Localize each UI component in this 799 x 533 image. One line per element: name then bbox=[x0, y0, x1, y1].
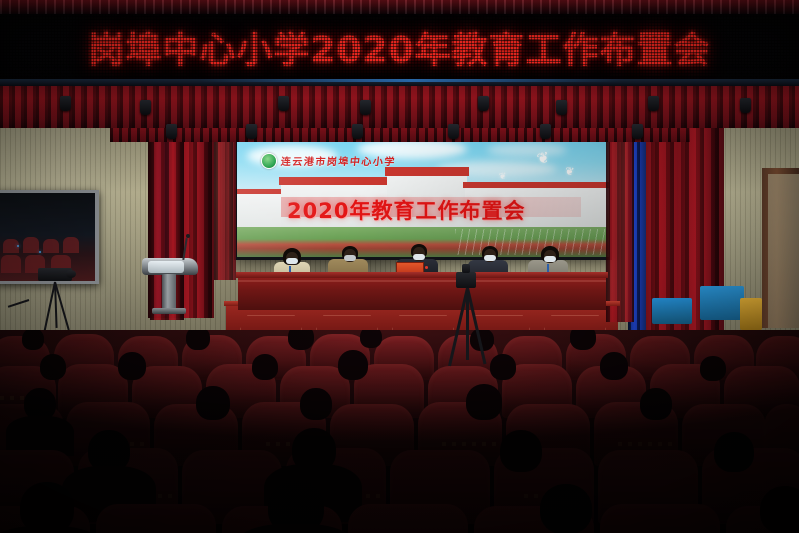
led-blue-glow bbox=[200, 79, 620, 82]
led-banner: 岗埠中心小学2020年教育工作布置会 bbox=[0, 0, 799, 86]
floor-camera-tripod bbox=[440, 272, 500, 352]
head-table bbox=[238, 276, 606, 310]
blue-box-large bbox=[700, 286, 744, 320]
spotlight-icon bbox=[360, 100, 371, 115]
auditorium-photo: ❦ ❦ ❦ 连云港市岗埠中心小学 2020年教育工作布置会 bbox=[0, 0, 799, 533]
spotlight-icon bbox=[278, 96, 289, 111]
audience-area bbox=[0, 330, 799, 533]
lapel-badge-icon bbox=[425, 266, 428, 269]
spotlight-icon bbox=[448, 124, 459, 139]
ceiling-strip bbox=[0, 0, 799, 14]
side-door bbox=[762, 168, 799, 328]
speaker-podium bbox=[142, 258, 198, 316]
projection-screen: ❦ ❦ ❦ 连云港市岗埠中心小学 2020年教育工作布置会 bbox=[234, 132, 612, 260]
spotlight-icon bbox=[632, 124, 643, 139]
screen-content: ❦ ❦ ❦ 连云港市岗埠中心小学 2020年教育工作布置会 bbox=[237, 135, 609, 257]
microphone-head-icon bbox=[186, 234, 190, 238]
head-table-top bbox=[236, 272, 608, 278]
spotlight-icon bbox=[246, 124, 257, 139]
spotlight-icon bbox=[740, 98, 751, 113]
spotlight-icon bbox=[140, 100, 151, 115]
door-panel bbox=[768, 174, 799, 328]
spotlight-icon bbox=[352, 124, 363, 139]
led-banner-text: 岗埠中心小学2020年教育工作布置会 bbox=[0, 14, 799, 80]
yellow-box bbox=[740, 298, 762, 330]
camera-tripod bbox=[26, 278, 86, 330]
stage-valance bbox=[0, 82, 799, 128]
spotlight-icon bbox=[648, 96, 659, 111]
spotlight-icon bbox=[478, 96, 489, 111]
spotlight-icon bbox=[166, 124, 177, 139]
spotlight-icon bbox=[540, 124, 551, 139]
spotlight-icon bbox=[556, 100, 567, 115]
spotlight-icon bbox=[60, 96, 71, 111]
blue-box-small bbox=[652, 298, 692, 324]
